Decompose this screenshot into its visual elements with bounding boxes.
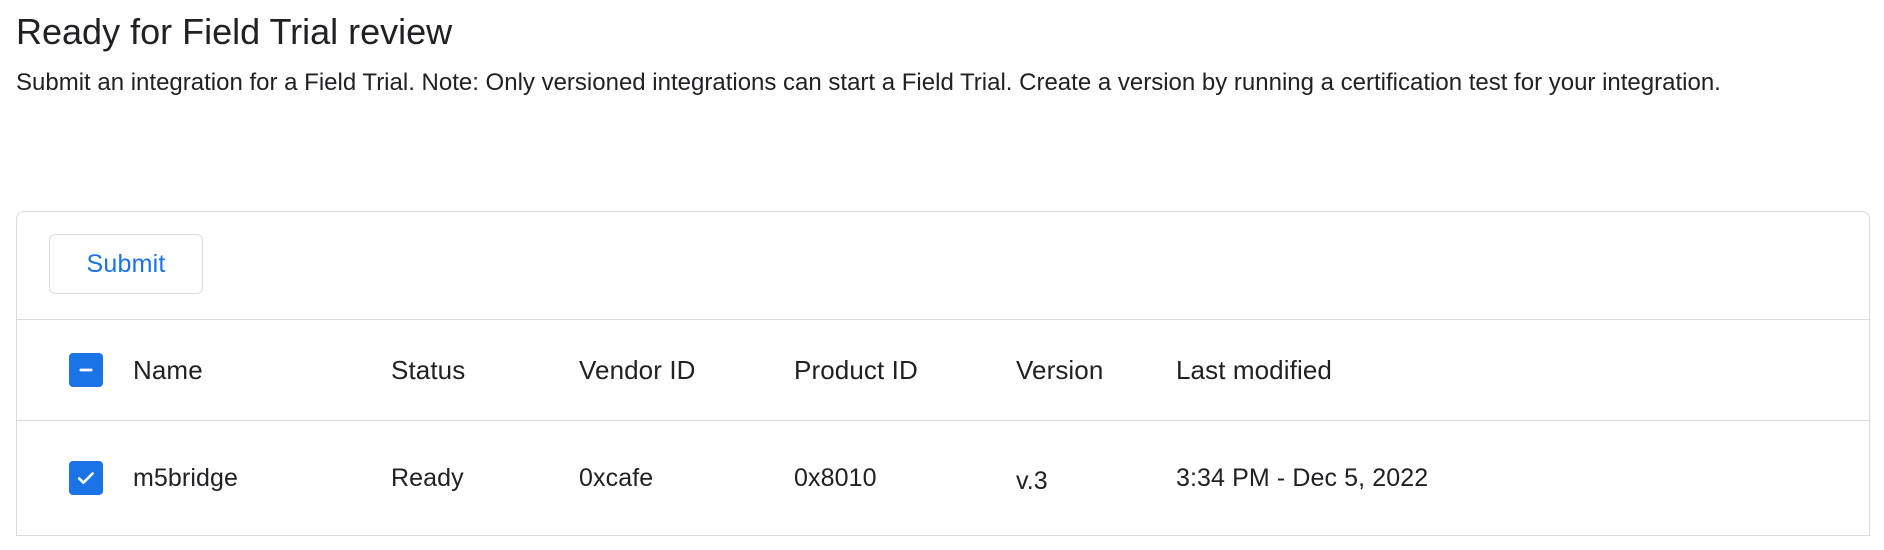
cell-product-id: 0x8010 — [794, 421, 1016, 536]
row-select-wrapper — [17, 461, 133, 495]
row-checkbox[interactable] — [69, 461, 103, 495]
column-header-last-modified[interactable]: Last modified — [1176, 320, 1869, 421]
column-header-version[interactable]: Version — [1016, 320, 1176, 421]
page-title: Ready for Field Trial review — [16, 0, 1868, 54]
cell-status: Ready — [391, 421, 579, 536]
table-header: Name Status Vendor ID Product ID Version… — [17, 320, 1869, 421]
cell-vendor-id: 0xcafe — [579, 421, 794, 536]
table-row[interactable]: m5bridge Ready 0xcafe 0x8010 v.3 3:34 PM… — [17, 421, 1869, 536]
submit-button[interactable]: Submit — [49, 234, 203, 294]
check-icon — [75, 467, 97, 489]
column-header-name[interactable]: Name — [133, 320, 391, 421]
cell-last-modified: 3:34 PM - Dec 5, 2022 — [1176, 421, 1869, 536]
select-all-header-cell — [17, 320, 133, 421]
column-header-product-id[interactable]: Product ID — [794, 320, 1016, 421]
field-trial-review-page: Ready for Field Trial review Submit an i… — [0, 0, 1884, 550]
table-header-row: Name Status Vendor ID Product ID Version… — [17, 320, 1869, 421]
minus-icon — [76, 360, 96, 380]
card-toolbar: Submit — [17, 212, 1869, 320]
integrations-card: Submit — [16, 211, 1870, 536]
integrations-table: Name Status Vendor ID Product ID Version… — [17, 320, 1869, 536]
row-select-cell — [17, 421, 133, 536]
table-body: m5bridge Ready 0xcafe 0x8010 v.3 3:34 PM… — [17, 421, 1869, 536]
cell-version: v.3 — [1016, 424, 1176, 537]
column-header-vendor-id[interactable]: Vendor ID — [579, 320, 794, 421]
column-header-status[interactable]: Status — [391, 320, 579, 421]
select-all-checkbox[interactable] — [69, 353, 103, 387]
select-all-wrapper — [17, 353, 133, 387]
page-description: Submit an integration for a Field Trial.… — [16, 54, 1868, 101]
cell-name: m5bridge — [133, 421, 391, 536]
